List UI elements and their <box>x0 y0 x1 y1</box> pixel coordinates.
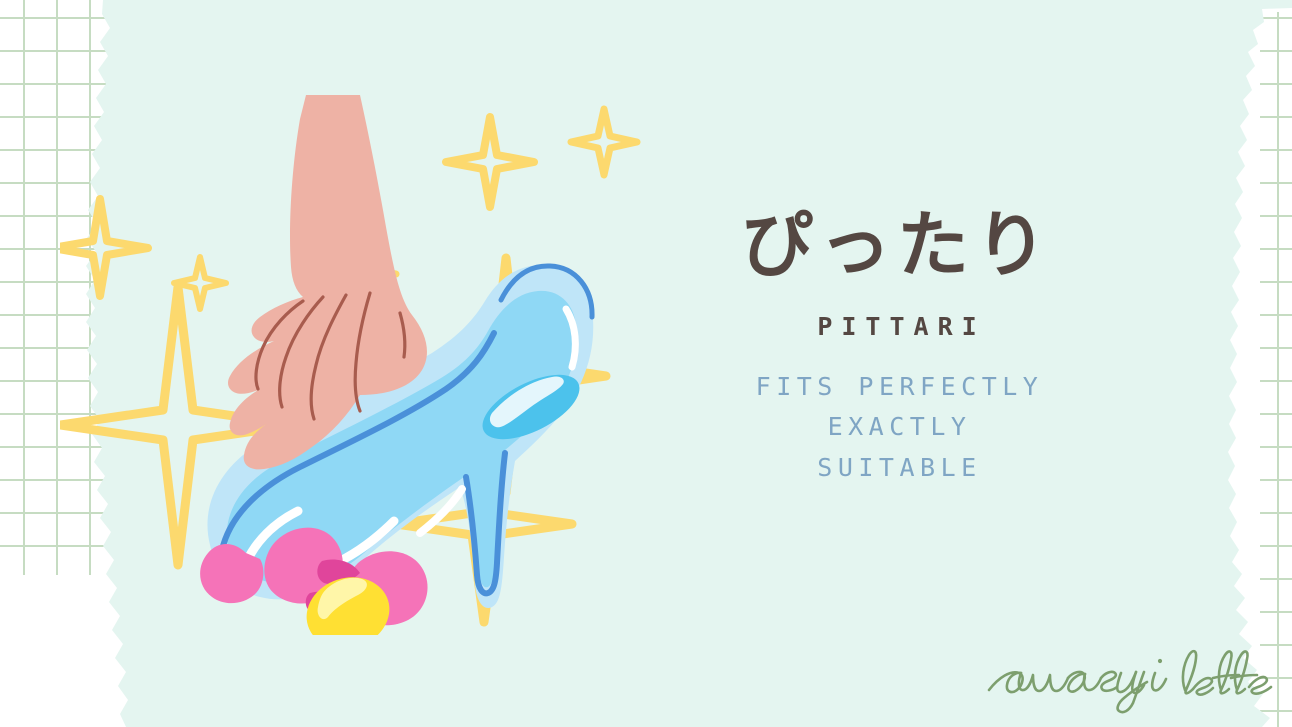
signature-amasugi-letter <box>985 645 1275 715</box>
illustration-glass-slipper <box>60 95 700 635</box>
meanings-list: FITS PERFECTLY EXACTLY SUITABLE <box>662 367 1132 489</box>
japanese-title: ぴったり <box>662 205 1132 286</box>
meaning-line-3: SUITABLE <box>667 448 1132 489</box>
text-block: ぴったり PITTARI FITS PERFECTLY EXACTLY SUIT… <box>662 205 1132 488</box>
romaji-label: PITTARI <box>662 312 1132 341</box>
card-canvas: ぴったり PITTARI FITS PERFECTLY EXACTLY SUIT… <box>0 0 1292 727</box>
meaning-line-1: FITS PERFECTLY <box>667 367 1132 408</box>
meaning-line-2: EXACTLY <box>667 407 1132 448</box>
